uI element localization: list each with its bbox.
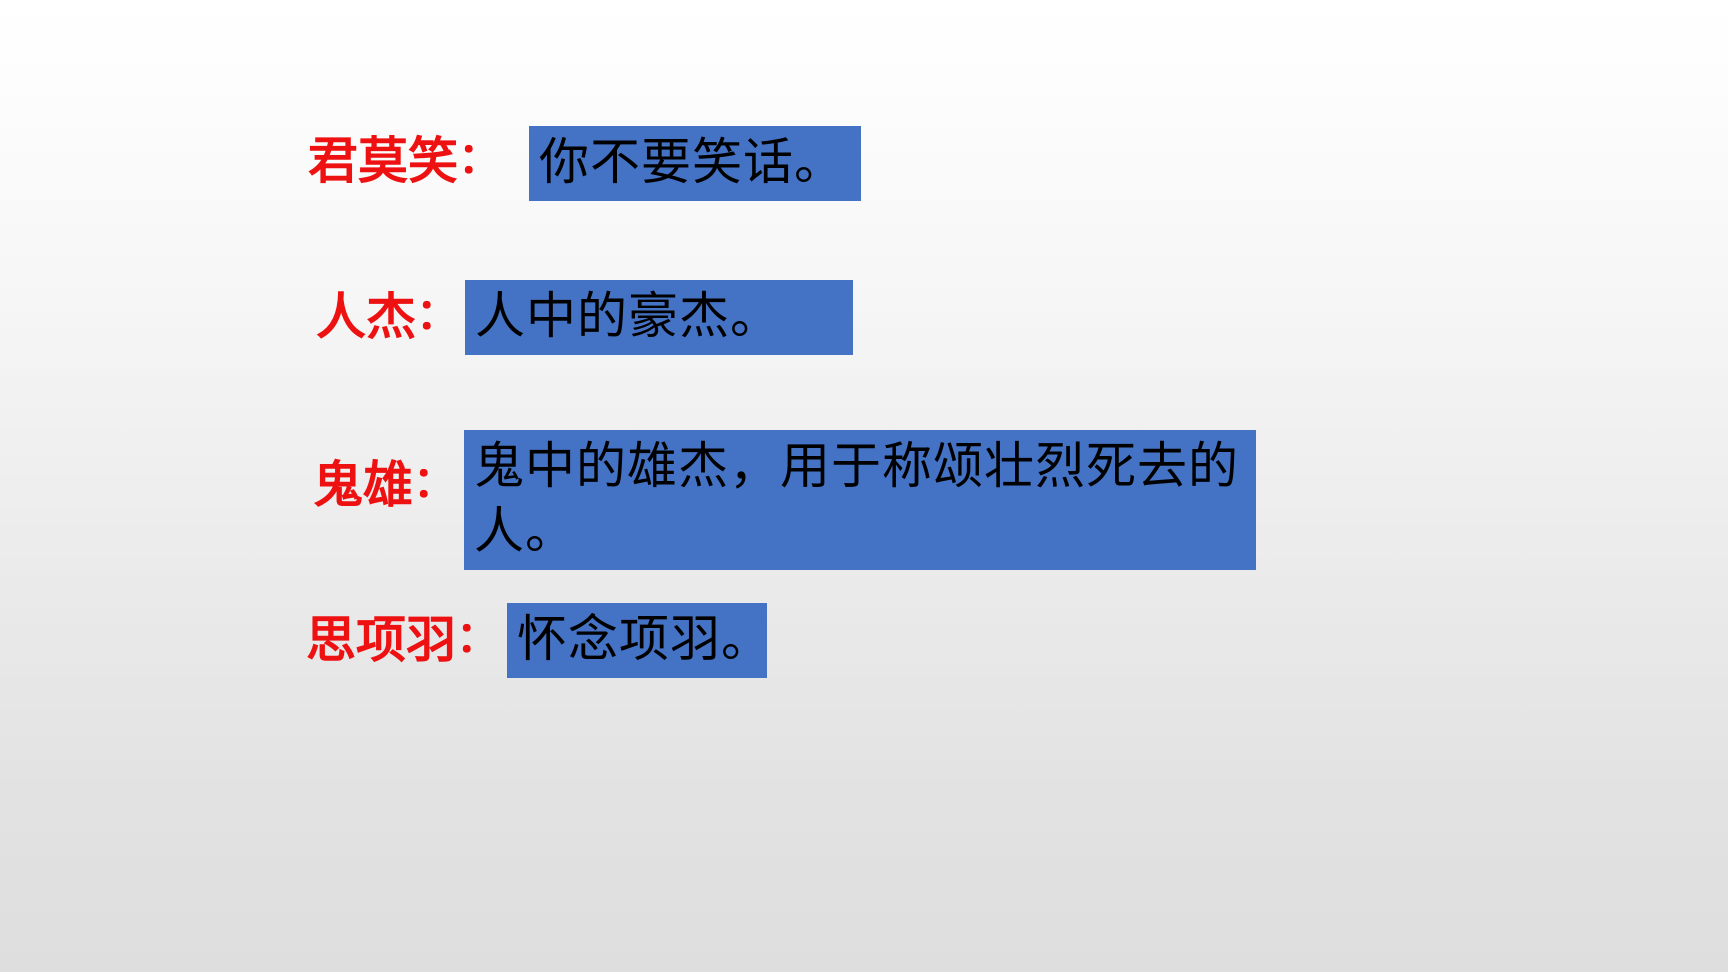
term-colon: ： <box>456 603 499 660</box>
vocabulary-row: 思项羽 ： 怀念项羽。 <box>306 603 767 678</box>
vocabulary-definition: 怀念项羽。 <box>507 603 767 678</box>
vocabulary-term: 人杰 <box>316 280 416 342</box>
vocabulary-definition: 你不要笑话。 <box>529 126 861 201</box>
term-colon: ： <box>458 126 501 181</box>
vocabulary-row: 君莫笑 ： 你不要笑话。 <box>308 126 861 201</box>
term-colon: ： <box>416 280 459 337</box>
vocabulary-row: 鬼雄 ： 鬼中的雄杰，用于称颂壮烈死去的人。 <box>313 430 1256 570</box>
vocabulary-term: 思项羽 <box>306 603 456 665</box>
vocabulary-term: 君莫笑 <box>308 126 458 186</box>
vocabulary-definition: 鬼中的雄杰，用于称颂壮烈死去的人。 <box>464 430 1256 570</box>
slide-canvas: 君莫笑 ： 你不要笑话。 人杰 ： 人中的豪杰。 鬼雄 ： 鬼中的雄杰，用于称颂… <box>0 0 1728 972</box>
term-colon: ： <box>413 430 456 505</box>
vocabulary-term: 鬼雄 <box>313 430 413 510</box>
vocabulary-definition: 人中的豪杰。 <box>465 280 853 355</box>
vocabulary-row: 人杰 ： 人中的豪杰。 <box>316 280 853 355</box>
